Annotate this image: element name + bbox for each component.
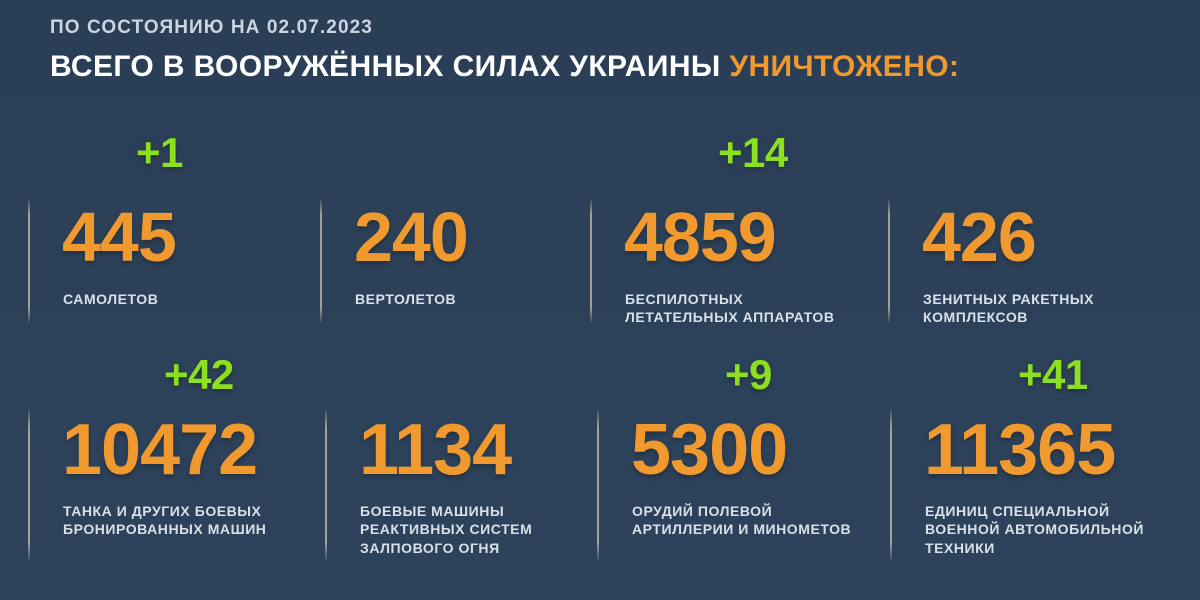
column-divider [597, 410, 599, 560]
stat-cell-mlrs: 1134 БОЕВЫЕ МАШИНЫ РЕАКТИВНЫХ СИСТЕМ ЗАЛ… [325, 340, 597, 562]
stats-row-1: +1 445 САМОЛЕТОВ 240 ВЕРТОЛЕТОВ +14 4859… [0, 118, 1200, 340]
stats-row-2: +42 10472 ТАНКА И ДРУГИХ БОЕВЫХ БРОНИРОВ… [0, 340, 1200, 562]
header: ПО СОСТОЯНИЮ НА 02.07.2023 ВСЕГО В ВООРУ… [50, 18, 1180, 83]
stat-value: 5300 [631, 414, 787, 486]
column-divider [590, 200, 592, 322]
stat-cell-artillery: +9 5300 ОРУДИЙ ПОЛЕВОЙ АРТИЛЛЕРИИ И МИНО… [597, 340, 890, 562]
stat-caption: ЗЕНИТНЫХ РАКЕТНЫХ КОМПЛЕКСОВ [923, 290, 1094, 327]
stat-value: 240 [354, 202, 468, 272]
stat-value: 426 [922, 202, 1036, 272]
stat-cell-aircraft: +1 445 САМОЛЕТОВ [28, 118, 320, 340]
stat-cell-tanks: +42 10472 ТАНКА И ДРУГИХ БОЕВЫХ БРОНИРОВ… [28, 340, 325, 562]
stat-cell-sam-systems: 426 ЗЕНИТНЫХ РАКЕТНЫХ КОМПЛЕКСОВ [888, 118, 1188, 340]
delta-badge: +1 [136, 132, 183, 174]
delta-badge: +41 [1018, 354, 1088, 396]
column-divider [320, 200, 322, 322]
page-title-accent: УНИЧТОЖЕНО: [729, 50, 959, 83]
stat-cell-helicopters: 240 ВЕРТОЛЕТОВ [320, 118, 590, 340]
stats-grid: +1 445 САМОЛЕТОВ 240 ВЕРТОЛЕТОВ +14 4859… [0, 118, 1200, 562]
stat-cell-military-vehicles: +41 11365 ЕДИНИЦ СПЕЦИАЛЬНОЙ ВОЕННОЙ АВТ… [890, 340, 1190, 562]
stat-value: 10472 [62, 414, 257, 486]
stat-value: 445 [62, 202, 176, 272]
infographic-page: ПО СОСТОЯНИЮ НА 02.07.2023 ВСЕГО В ВООРУ… [0, 0, 1200, 600]
column-divider [888, 200, 890, 322]
stat-value: 1134 [359, 414, 511, 486]
delta-badge: +9 [725, 354, 772, 396]
stat-caption: БОЕВЫЕ МАШИНЫ РЕАКТИВНЫХ СИСТЕМ ЗАЛПОВОГ… [360, 502, 532, 557]
delta-badge: +42 [164, 354, 234, 396]
column-divider [28, 200, 30, 322]
stat-caption: ОРУДИЙ ПОЛЕВОЙ АРТИЛЛЕРИИ И МИНОМЕТОВ [632, 502, 851, 539]
stat-caption: ВЕРТОЛЕТОВ [355, 290, 456, 308]
stat-value: 4859 [624, 202, 776, 272]
column-divider [28, 410, 30, 560]
stat-caption: ТАНКА И ДРУГИХ БОЕВЫХ БРОНИРОВАННЫХ МАШИ… [63, 502, 266, 539]
stat-value: 11365 [924, 414, 1115, 486]
stat-caption: БЕСПИЛОТНЫХ ЛЕТАТЕЛЬНЫХ АППАРАТОВ [625, 290, 835, 327]
stat-cell-uav: +14 4859 БЕСПИЛОТНЫХ ЛЕТАТЕЛЬНЫХ АППАРАТ… [590, 118, 888, 340]
report-date: ПО СОСТОЯНИЮ НА 02.07.2023 [50, 18, 1180, 37]
page-title: ВСЕГО В ВООРУЖЁННЫХ СИЛАХ УКРАИНЫ УНИЧТО… [50, 51, 1180, 83]
column-divider [325, 410, 327, 560]
page-title-main: ВСЕГО В ВООРУЖЁННЫХ СИЛАХ УКРАИНЫ [50, 50, 729, 83]
stat-caption: ЕДИНИЦ СПЕЦИАЛЬНОЙ ВОЕННОЙ АВТОМОБИЛЬНОЙ… [925, 502, 1144, 557]
column-divider [890, 410, 892, 560]
delta-badge: +14 [718, 132, 788, 174]
stat-caption: САМОЛЕТОВ [63, 290, 158, 308]
